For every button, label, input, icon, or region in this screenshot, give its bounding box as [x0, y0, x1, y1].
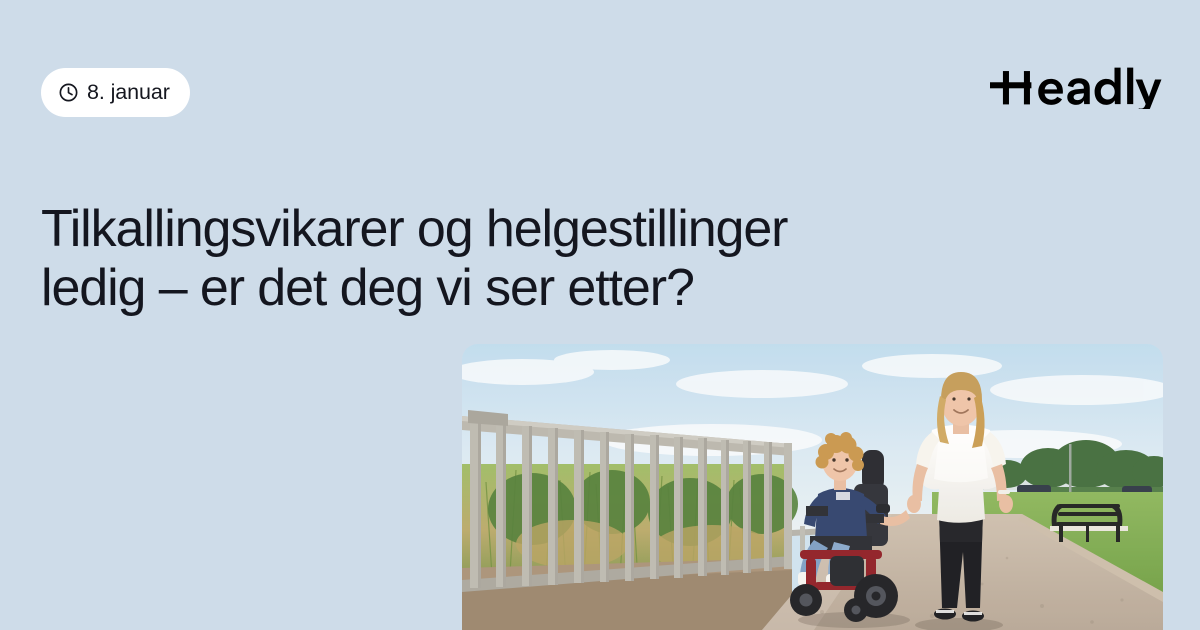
headly-logo[interactable]: [990, 62, 1163, 110]
article-photo: [462, 344, 1163, 630]
social-share-card: 8. januar Tilkallingsvikarer og: [0, 0, 1200, 630]
clock-icon: [58, 82, 79, 103]
page-title: Tilkallingsvikarer og helgestillinger le…: [41, 200, 1041, 318]
date-label: 8. januar: [87, 82, 170, 104]
date-badge: 8. januar: [41, 68, 190, 117]
